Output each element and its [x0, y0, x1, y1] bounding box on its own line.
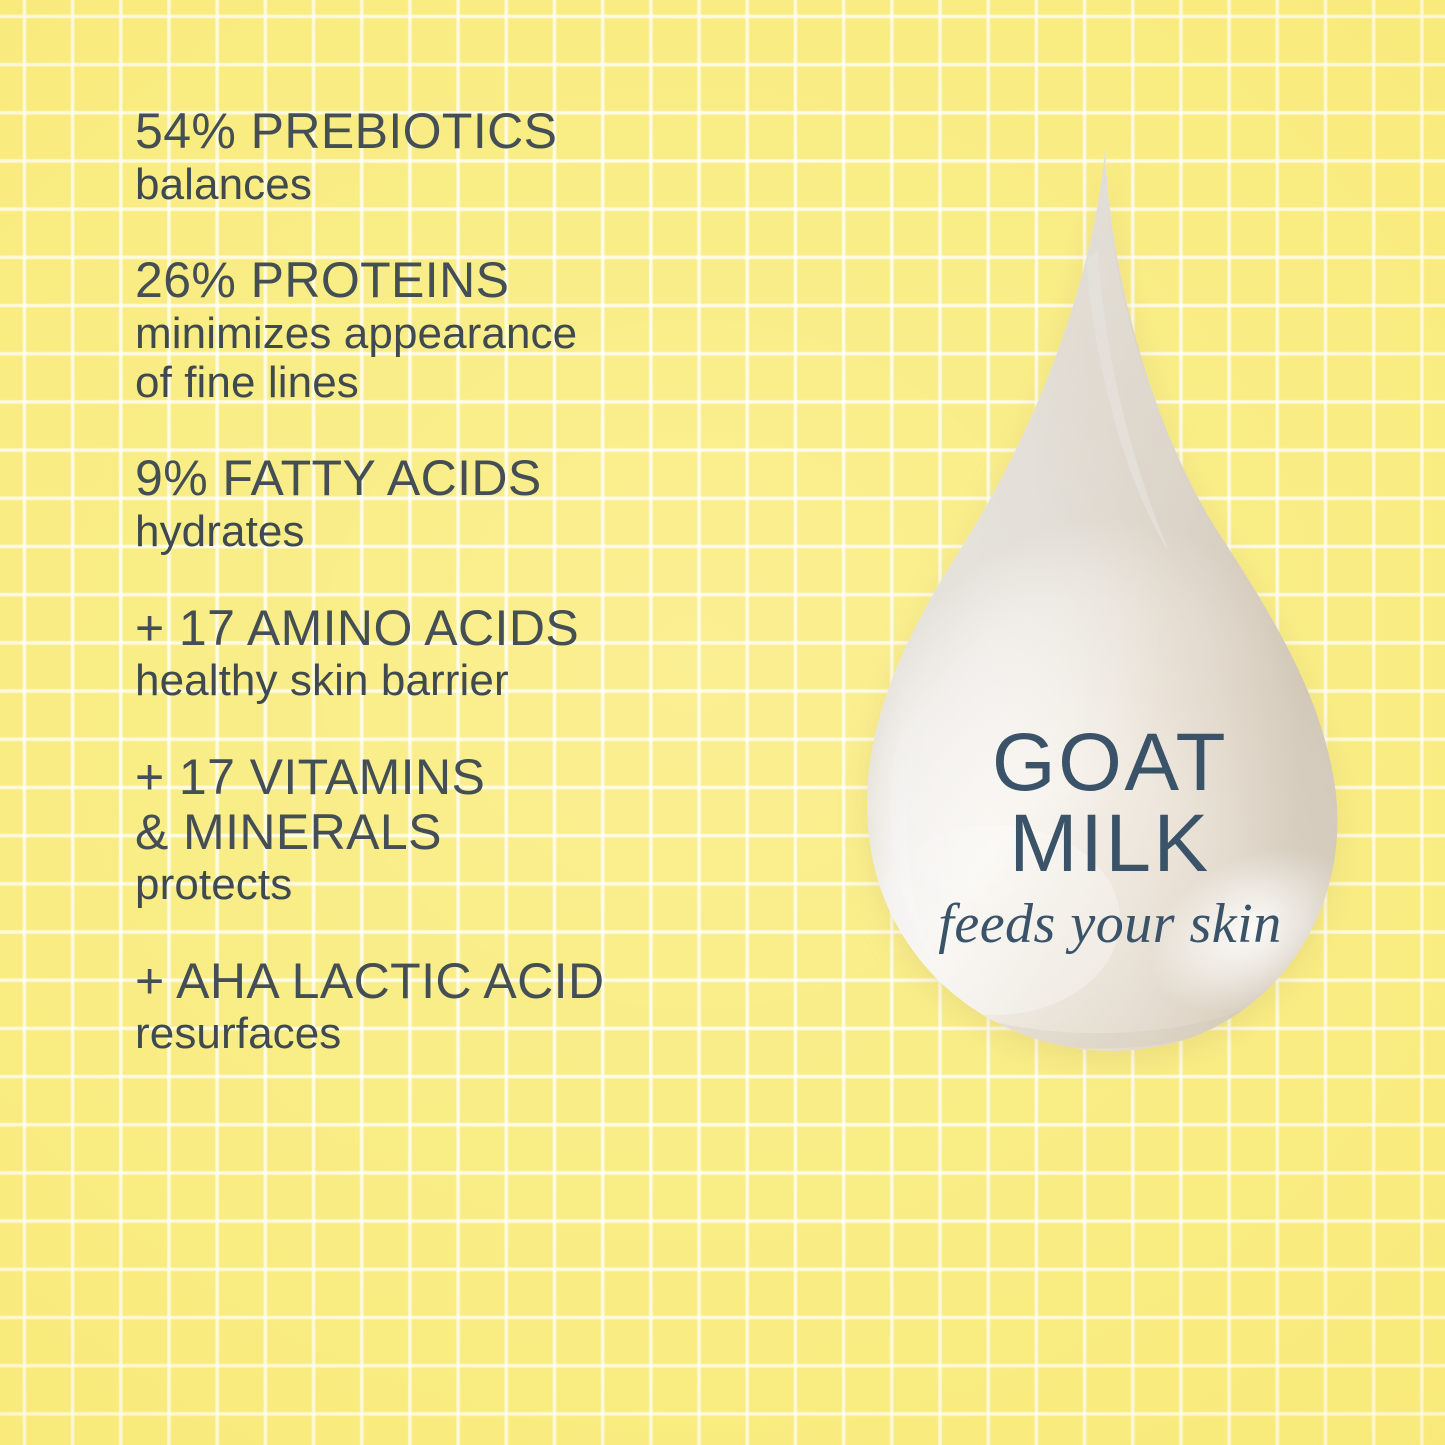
milk-droplet-graphic: GOAT MILK feeds your skin	[800, 130, 1420, 1180]
benefit-headline: + 17 AMINO ACIDS	[135, 601, 835, 656]
benefit-item-proteins: 26% PROTEINS minimizes appearance of fin…	[135, 253, 835, 407]
benefit-item-aha-lactic-acid: + AHA LACTIC ACID resurfaces	[135, 954, 835, 1059]
benefit-item-fatty-acids: 9% FATTY ACIDS hydrates	[135, 451, 835, 556]
benefit-headline: 26% PROTEINS	[135, 253, 835, 308]
benefit-subline: minimizes appearance of fine lines	[135, 310, 835, 408]
milk-droplet-icon	[800, 130, 1420, 1180]
benefit-subline: balances	[135, 161, 835, 210]
benefit-headline: + 17 VITAMINS & MINERALS	[135, 750, 835, 859]
benefits-list: 54% PREBIOTICS balances 26% PROTEINS min…	[135, 104, 835, 1059]
benefit-item-amino-acids: + 17 AMINO ACIDS healthy skin barrier	[135, 601, 835, 706]
product-benefits-graphic: 54% PREBIOTICS balances 26% PROTEINS min…	[0, 0, 1445, 1445]
benefit-headline: + AHA LACTIC ACID	[135, 954, 835, 1009]
benefit-item-vitamins-minerals: + 17 VITAMINS & MINERALS protects	[135, 750, 835, 910]
droplet-base-shadow	[800, 130, 1420, 1180]
benefit-headline: 9% FATTY ACIDS	[135, 451, 835, 506]
benefit-item-prebiotics: 54% PREBIOTICS balances	[135, 104, 835, 209]
benefit-subline: resurfaces	[135, 1010, 835, 1059]
benefit-subline: healthy skin barrier	[135, 657, 835, 706]
benefit-headline: 54% PREBIOTICS	[135, 104, 835, 159]
benefit-subline: hydrates	[135, 508, 835, 557]
benefit-subline: protects	[135, 861, 835, 910]
